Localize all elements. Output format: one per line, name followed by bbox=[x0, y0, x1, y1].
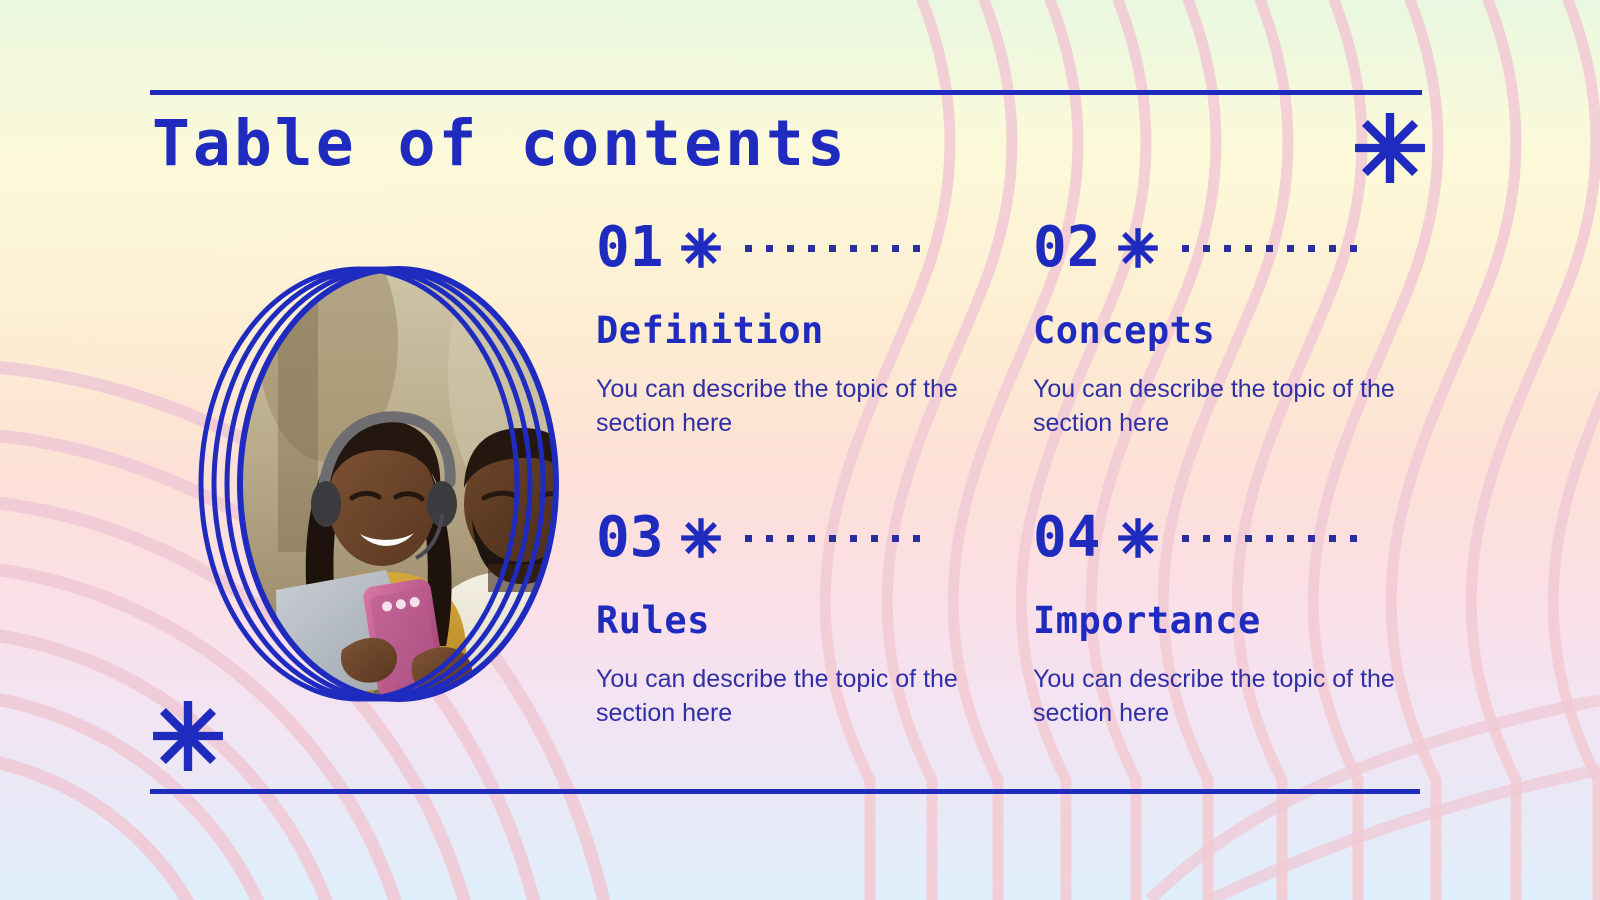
asterisk-icon bbox=[1352, 110, 1428, 186]
dotted-leader bbox=[1182, 245, 1420, 252]
toc-number: 02 bbox=[1033, 220, 1100, 276]
toc-item-01[interactable]: 01 bbox=[596, 212, 1033, 502]
toc-head: 02 bbox=[1033, 212, 1426, 284]
toc-item-03[interactable]: 03 bbox=[596, 502, 1033, 792]
dotted-leader bbox=[745, 535, 1027, 542]
toc-item-04[interactable]: 04 bbox=[1033, 502, 1426, 792]
toc-label: Concepts bbox=[1033, 312, 1426, 349]
toc-head: 03 bbox=[596, 502, 1033, 574]
toc-number: 04 bbox=[1033, 510, 1100, 566]
asterisk-icon bbox=[1116, 516, 1160, 560]
toc-number: 01 bbox=[596, 220, 663, 276]
slide-canvas: Table of contents bbox=[0, 0, 1600, 900]
toc-head: 04 bbox=[1033, 502, 1426, 574]
toc-description: You can describe the topic of the sectio… bbox=[596, 663, 971, 731]
toc-head: 01 bbox=[596, 212, 1033, 284]
toc-number: 03 bbox=[596, 510, 663, 566]
toc-description: You can describe the topic of the sectio… bbox=[596, 373, 971, 441]
asterisk-icon bbox=[679, 226, 723, 270]
dotted-leader bbox=[745, 245, 1027, 252]
toc-label: Rules bbox=[596, 602, 1033, 639]
toc-label: Importance bbox=[1033, 602, 1426, 639]
table-of-contents-grid: 01 bbox=[596, 212, 1426, 792]
page-title: Table of contents bbox=[152, 112, 848, 175]
toc-description: You can describe the topic of the sectio… bbox=[1033, 663, 1408, 731]
asterisk-icon bbox=[1116, 226, 1160, 270]
dotted-leader bbox=[1182, 535, 1420, 542]
photo-frame bbox=[128, 252, 568, 712]
toc-description: You can describe the topic of the sectio… bbox=[1033, 373, 1408, 441]
rule-top bbox=[150, 90, 1422, 95]
toc-item-02[interactable]: 02 bbox=[1033, 212, 1426, 502]
toc-label: Definition bbox=[596, 312, 1033, 349]
asterisk-icon bbox=[679, 516, 723, 560]
